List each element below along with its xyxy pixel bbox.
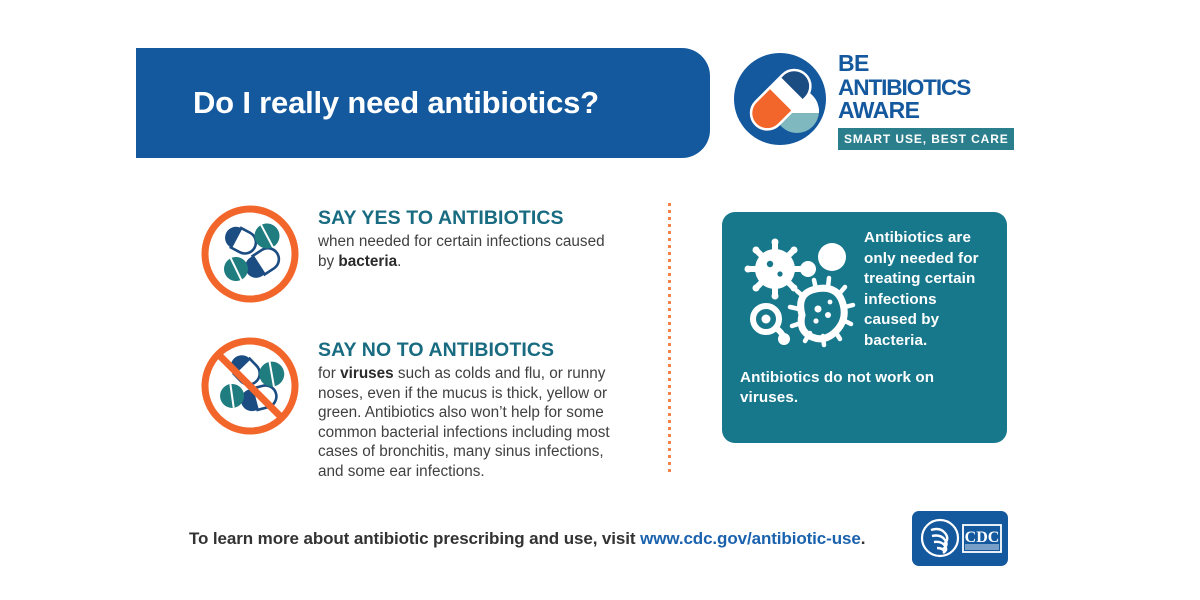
cdc-antibiotic-use-link[interactable]: www.cdc.gov/antibiotic-use xyxy=(640,529,861,548)
cdc-hhs-logo-icon: CDC xyxy=(912,511,1008,566)
pills-circle-icon xyxy=(196,200,304,308)
body-emphasis: bacteria xyxy=(338,253,397,270)
section-say-yes: SAY YES TO ANTIBIOTICS when needed for c… xyxy=(196,200,618,308)
section-say-yes-heading: SAY YES TO ANTIBIOTICS xyxy=(318,207,618,230)
footer-lead: To learn more about antibiotic prescribi… xyxy=(189,529,640,548)
brand-wordmark: BE ANTIBIOTICS AWARE SMART USE, BEST CAR… xyxy=(838,52,1020,150)
callout-sub-text: Antibiotics do not work on viruses. xyxy=(740,368,989,409)
section-say-no-heading: SAY NO TO ANTIBIOTICS xyxy=(318,339,618,362)
body-lead: for xyxy=(318,365,340,382)
dotted-vertical-divider xyxy=(668,203,671,474)
section-say-yes-body: when needed for certain infections cause… xyxy=(318,232,618,271)
be-antibiotics-aware-logo: BE ANTIBIOTICS AWARE SMART USE, BEST CAR… xyxy=(730,46,1020,156)
section-say-no-text: SAY NO TO ANTIBIOTICS for viruses such a… xyxy=(318,332,618,482)
callout-box: Antibiotics are only needed for treating… xyxy=(722,212,1007,443)
bacteria-germs-icon xyxy=(740,231,858,349)
page-title-banner: Do I really need antibiotics? xyxy=(136,48,710,158)
section-say-no: SAY NO TO ANTIBIOTICS for viruses such a… xyxy=(196,332,618,482)
page-title: Do I really need antibiotics? xyxy=(136,85,599,121)
pill-capsule-logo-icon xyxy=(730,49,830,149)
callout-top: Antibiotics are only needed for treating… xyxy=(740,228,989,352)
section-say-no-body: for viruses such as colds and flu, or ru… xyxy=(318,364,618,482)
body-emphasis: viruses xyxy=(340,365,394,382)
footer-note: To learn more about antibiotic prescribi… xyxy=(189,527,865,550)
footer-tail: . xyxy=(861,529,866,548)
body-tail: such as colds and flu, or runny noses, e… xyxy=(318,365,610,480)
callout-main-text: Antibiotics are only needed for treating… xyxy=(864,228,989,352)
cdc-hhs-logo: CDC xyxy=(912,511,1008,566)
pills-circle-no-icon xyxy=(196,332,304,440)
wordmark-line-antibiotics: ANTIBIOTICS xyxy=(838,76,1020,100)
section-say-yes-text: SAY YES TO ANTIBIOTICS when needed for c… xyxy=(318,200,618,271)
wordmark-line-be: BE xyxy=(838,52,1020,76)
wordmark-line-aware: AWARE xyxy=(838,99,1020,123)
cdc-logo-label: CDC xyxy=(965,529,1000,546)
brand-tagline: SMART USE, BEST CARE xyxy=(838,128,1014,150)
body-tail: . xyxy=(397,253,401,270)
